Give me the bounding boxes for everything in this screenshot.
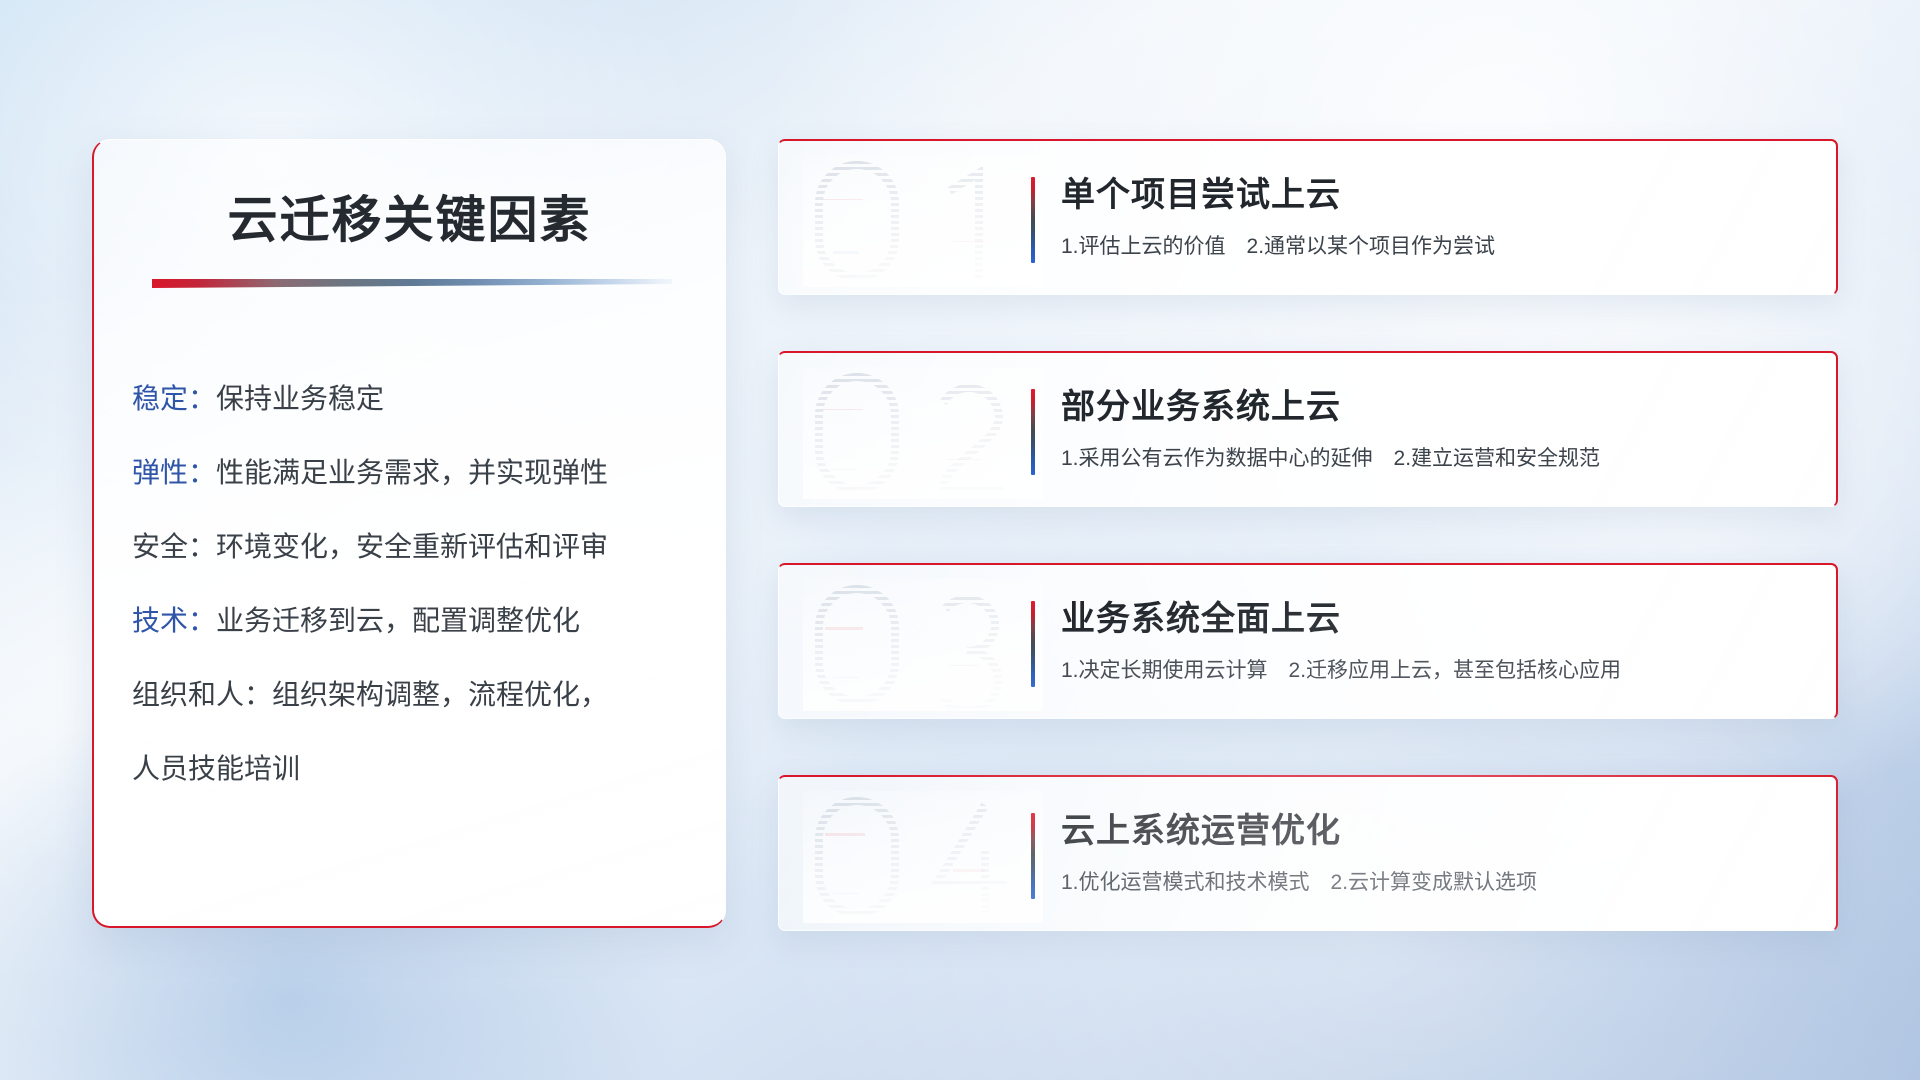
card-body: 云上系统运营优化 1.优化运营模式和技术模式 2.云计算变成默认选项 (1061, 807, 1810, 898)
card-accent-bar (1031, 389, 1035, 475)
slide-canvas: 云迁移关键因素 稳定：保持业务稳定 弹性：性能满足业务需求，并实现弹性 安全：环… (0, 0, 1920, 1080)
list-item: 弹性：性能满足业务需求，并实现弹性 (132, 436, 699, 510)
factor-text: 人员技能培训 (132, 753, 300, 784)
card-body: 业务系统全面上云 1.决定长期使用云计算 2.迁移应用上云，甚至包括核心应用 (1061, 595, 1810, 686)
factor-label: 弹性： (132, 457, 216, 488)
key-factors-panel: 云迁移关键因素 稳定：保持业务稳定 弹性：性能满足业务需求，并实现弹性 安全：环… (92, 139, 726, 928)
factor-text: 保持业务稳定 (216, 383, 384, 414)
stage-card[interactable]: 部分业务系统上云 1.采用公有云作为数据中心的延伸 2.建立运营和安全规范 (778, 351, 1838, 507)
factor-text: 性能满足业务需求，并实现弹性 (216, 457, 608, 488)
stage-card[interactable]: 云上系统运营优化 1.优化运营模式和技术模式 2.云计算变成默认选项 (778, 775, 1838, 931)
card-description: 1.优化运营模式和技术模式 2.云计算变成默认选项 (1061, 868, 1810, 898)
card-accent-bar (1031, 601, 1035, 687)
factor-text: 环境变化，安全重新评估和评审 (216, 531, 608, 562)
card-title: 单个项目尝试上云 (1061, 171, 1810, 219)
stage-card[interactable]: 业务系统全面上云 1.决定长期使用云计算 2.迁移应用上云，甚至包括核心应用 (778, 563, 1838, 719)
stage-number-icon (803, 367, 1043, 499)
factor-label: 技术： (132, 605, 216, 636)
card-description: 1.采用公有云作为数据中心的延伸 2.建立运营和安全规范 (1061, 444, 1810, 474)
card-body: 单个项目尝试上云 1.评估上云的价值 2.通常以某个项目作为尝试 (1061, 171, 1810, 262)
list-item: 稳定：保持业务稳定 (132, 362, 699, 436)
list-item: 人员技能培训 (132, 732, 699, 806)
factor-text: 组织架构调整，流程优化， (272, 679, 608, 710)
card-title: 云上系统运营优化 (1061, 807, 1810, 855)
card-description: 1.评估上云的价值 2.通常以某个项目作为尝试 (1061, 232, 1810, 262)
card-body: 部分业务系统上云 1.采用公有云作为数据中心的延伸 2.建立运营和安全规范 (1061, 383, 1810, 474)
page-title: 云迁移关键因素 (94, 180, 725, 252)
stage-card[interactable]: 单个项目尝试上云 1.评估上云的价值 2.通常以某个项目作为尝试 (778, 139, 1838, 295)
card-accent-bar (1031, 813, 1035, 899)
factor-label: 稳定： (132, 383, 216, 414)
factor-list: 稳定：保持业务稳定 弹性：性能满足业务需求，并实现弹性 安全：环境变化，安全重新… (132, 362, 699, 806)
stage-number-icon (803, 155, 1043, 287)
title-underline-rule (152, 279, 672, 288)
factor-text: 业务迁移到云，配置调整优化 (216, 605, 580, 636)
card-accent-bar (1031, 177, 1035, 263)
factor-label: 安全： (132, 531, 216, 562)
stage-number-icon (803, 579, 1043, 711)
card-description: 1.决定长期使用云计算 2.迁移应用上云，甚至包括核心应用 (1061, 656, 1810, 686)
card-title: 部分业务系统上云 (1061, 383, 1810, 431)
list-item: 组织和人：组织架构调整，流程优化， (132, 658, 699, 732)
card-title: 业务系统全面上云 (1061, 595, 1810, 643)
stage-number-icon (803, 791, 1043, 923)
factor-label: 组织和人： (132, 679, 272, 710)
list-item: 技术：业务迁移到云，配置调整优化 (132, 584, 699, 658)
list-item: 安全：环境变化，安全重新评估和评审 (132, 510, 699, 584)
stage-card-list: 单个项目尝试上云 1.评估上云的价值 2.通常以某个项目作为尝试 (778, 139, 1838, 931)
